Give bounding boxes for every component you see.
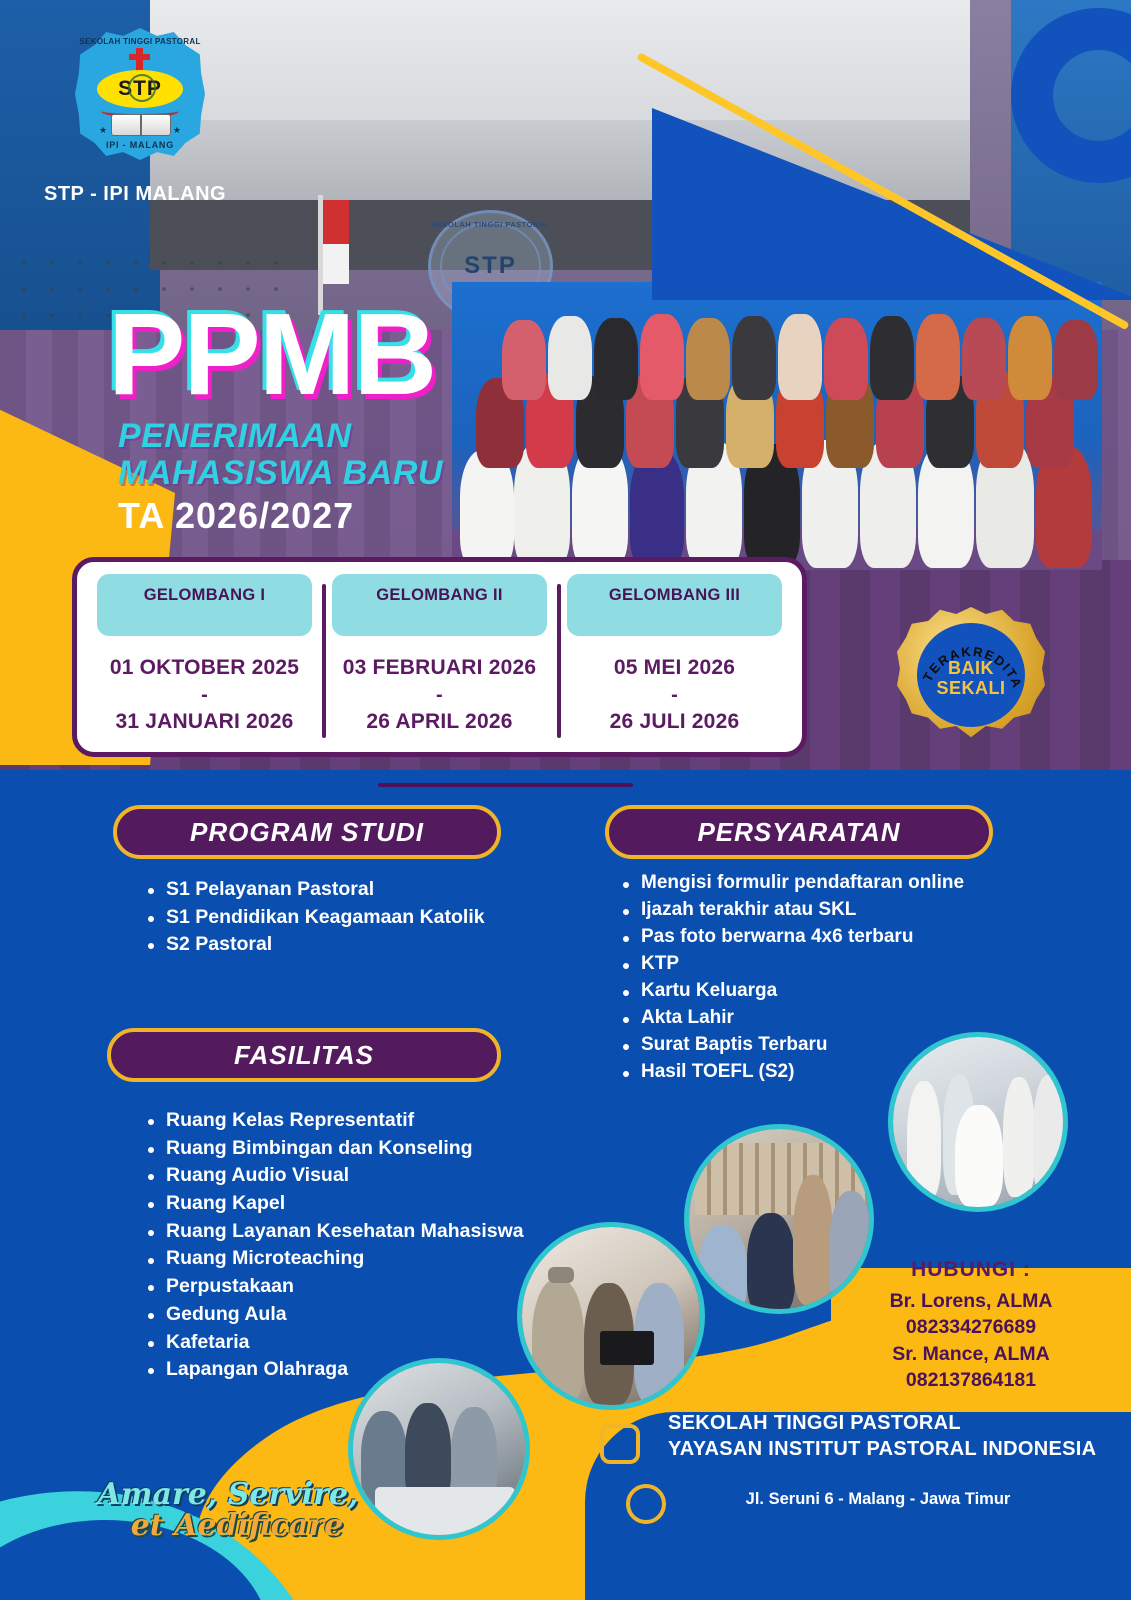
logo-cross-icon xyxy=(136,48,143,72)
contact-heading: HUBUNGI : xyxy=(840,1258,1102,1282)
wave-dates: 05 MEI 2026 - 26 JULI 2026 xyxy=(610,654,740,736)
list-item: Pas foto berwarna 4x6 terbaru xyxy=(615,924,1035,951)
indonesian-flag-white xyxy=(323,244,349,284)
wave-dates: 03 FEBRUARI 2026 - 26 APRIL 2026 xyxy=(343,654,536,736)
logo-arc-bottom-text: IPI - MALANG xyxy=(75,140,205,150)
academic-year: TA 2026/2027 xyxy=(118,495,354,537)
person xyxy=(640,314,684,400)
globe-icon xyxy=(128,74,156,102)
desk xyxy=(375,1487,515,1535)
wave-dash: - xyxy=(110,682,299,708)
list-item: Ruang Audio Visual xyxy=(140,1162,540,1190)
list-item: KTP xyxy=(615,951,1035,978)
person xyxy=(699,1225,747,1314)
wave-column-1: GELOMBANG I 01 OKTOBER 2025 - 31 JANUARI… xyxy=(87,574,322,740)
poster-subtitle: PENERIMAAN MAHASISWA BARU xyxy=(118,418,443,491)
wave-column-2: GELOMBANG II 03 FEBRUARI 2026 - 26 APRIL… xyxy=(322,574,557,740)
stp-ipi-logo: SEKOLAH TINGGI PASTORAL STP ★ ★ IPI - MA… xyxy=(75,28,205,160)
list-item: S2 Pastoral xyxy=(140,931,500,959)
person xyxy=(1054,320,1098,400)
list-item: S1 Pelayanan Pastoral xyxy=(140,876,500,904)
wave-title: GELOMBANG I xyxy=(97,574,312,636)
group-photo-students xyxy=(452,282,1102,570)
program-studi-heading: PROGRAM STUDI xyxy=(113,805,501,859)
wave-start-date: 01 OKTOBER 2025 xyxy=(110,654,299,682)
poster-title: PPMB xyxy=(108,296,435,412)
accreditation-grade: BAIK SEKALI xyxy=(917,659,1025,699)
indonesian-flag-red xyxy=(323,200,349,244)
list-item: Ruang Layanan Kesehatan Mahasiswa xyxy=(140,1218,540,1246)
star-icon-left: ★ xyxy=(99,125,107,136)
contact-block: HUBUNGI : Br. Lorens, ALMA 082334276689 … xyxy=(840,1258,1102,1393)
fasilitas-heading: FASILITAS xyxy=(107,1028,501,1082)
fasilitas-list: Ruang Kelas Representatif Ruang Bimbinga… xyxy=(140,1107,540,1384)
poster-root: SEKOLAH TINGGI PASTORAL STP IPI - MALANG xyxy=(0,0,1131,1600)
wave-column-3: GELOMBANG III 05 MEI 2026 - 26 JULI 2026 xyxy=(557,574,792,740)
contact-person-1-name: Br. Lorens, ALMA xyxy=(840,1288,1102,1314)
person xyxy=(732,316,776,400)
book-spine xyxy=(140,114,142,136)
list-item: Ruang Kapel xyxy=(140,1190,540,1218)
footer-address: Jl. Seruni 6 - Malang - Jawa Timur xyxy=(668,1490,1088,1509)
person xyxy=(916,314,960,400)
list-item: Perpustakaan xyxy=(140,1273,540,1301)
wave-title: GELOMBANG II xyxy=(332,574,547,636)
decor-circle-outline-icon xyxy=(626,1484,666,1524)
school-short-name: STP - IPI MALANG xyxy=(44,183,226,206)
section-divider xyxy=(378,783,633,787)
wave-title: GELOMBANG III xyxy=(567,574,782,636)
person xyxy=(778,314,822,400)
grade-line-2: SEKALI xyxy=(917,679,1025,699)
person xyxy=(747,1213,795,1314)
footer-institution-line-1: SEKOLAH TINGGI PASTORAL xyxy=(668,1412,961,1435)
list-item: Ruang Kelas Representatif xyxy=(140,1107,540,1135)
person xyxy=(962,318,1006,400)
list-item: Akta Lahir xyxy=(615,1005,1035,1032)
person xyxy=(594,318,638,400)
persyaratan-heading: PERSYARATAN xyxy=(605,805,993,859)
wave-start-date: 05 MEI 2026 xyxy=(610,654,740,682)
contact-person-1-phone[interactable]: 082334276689 xyxy=(840,1314,1102,1340)
hat xyxy=(548,1267,574,1283)
program-studi-list: S1 Pelayanan Pastoral S1 Pendidikan Keag… xyxy=(140,876,500,959)
person xyxy=(1008,316,1052,400)
list-item: Ruang Bimbingan dan Konseling xyxy=(140,1135,540,1163)
accreditation-seal: TERAKREDITASI BAIK SEKALI xyxy=(897,607,1045,747)
wave-end-date: 31 JANUARI 2026 xyxy=(110,708,299,736)
wave-end-date: 26 APRIL 2026 xyxy=(343,708,536,736)
wave-dash: - xyxy=(610,682,740,708)
wave-end-date: 26 JULI 2026 xyxy=(610,708,740,736)
seal-arc-top-text: SEKOLAH TINGGI PASTORAL xyxy=(431,220,550,229)
list-item: Kartu Keluarga xyxy=(615,978,1035,1005)
list-item: Ijazah terakhir atau SKL xyxy=(615,897,1035,924)
person xyxy=(548,316,592,400)
person xyxy=(502,320,546,400)
person xyxy=(686,318,730,400)
wave-dates: 01 OKTOBER 2025 - 31 JANUARI 2026 xyxy=(110,654,299,736)
motto-line-1: Amare, Servire, xyxy=(98,1477,359,1512)
subtitle-line-2: MAHASISWA BARU xyxy=(118,455,443,492)
grade-line-1: BAIK xyxy=(917,659,1025,679)
list-item: Ruang Microteaching xyxy=(140,1245,540,1273)
list-item: Gedung Aula xyxy=(140,1301,540,1329)
school-motto: Amare, Servire, et Aedificare xyxy=(78,1478,378,1542)
person xyxy=(793,1175,833,1305)
wave-start-date: 03 FEBRUARI 2026 xyxy=(343,654,536,682)
person xyxy=(1033,1075,1065,1197)
photo-students-with-nun xyxy=(888,1032,1068,1212)
registration-waves-card: GELOMBANG I 01 OKTOBER 2025 - 31 JANUARI… xyxy=(72,557,807,757)
footer-institution-line-2: YAYASAN INSTITUT PASTORAL INDONESIA xyxy=(668,1438,1096,1461)
decor-square-outline-icon xyxy=(600,1424,640,1464)
star-icon-right: ★ xyxy=(173,125,181,136)
contact-person-2-phone[interactable]: 082137864181 xyxy=(840,1367,1102,1393)
list-item: Kafetaria xyxy=(140,1329,540,1357)
logo-cross-icon-bar xyxy=(129,54,150,60)
person-saxophonist xyxy=(532,1279,584,1405)
person xyxy=(824,318,868,400)
person xyxy=(1003,1077,1035,1197)
logo-arc-top-text: SEKOLAH TINGGI PASTORAL xyxy=(75,37,205,46)
person xyxy=(907,1081,941,1199)
list-item: S1 Pendidikan Keagamaan Katolik xyxy=(140,904,500,932)
list-item: Mengisi formulir pendaftaran online xyxy=(615,870,1035,897)
person xyxy=(870,316,914,400)
motto-line-2: et Aedificare xyxy=(78,1509,378,1542)
contact-person-2-name: Sr. Mance, ALMA xyxy=(840,1341,1102,1367)
photo-students-music-performance xyxy=(517,1222,705,1410)
person-nun xyxy=(955,1105,1003,1207)
music-stand xyxy=(600,1331,654,1365)
subtitle-line-1: PENERIMAAN xyxy=(118,418,443,455)
wave-dash: - xyxy=(343,682,536,708)
